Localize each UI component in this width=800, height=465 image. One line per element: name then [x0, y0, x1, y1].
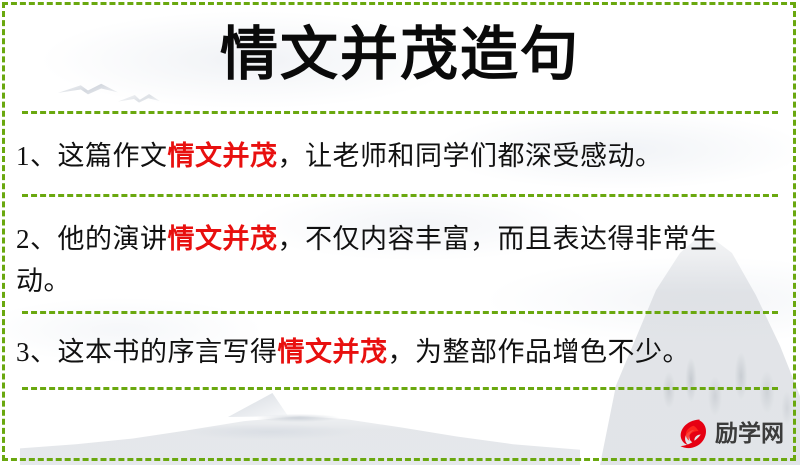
sentence-index: 3、 [16, 337, 58, 367]
card-content: 情文并茂造句 1、这篇作文情文并茂，让老师和同学们都深受感动。 2、他的演讲情文… [0, 0, 800, 465]
sentence-text-after: ，让老师和同学们都深受感动。 [278, 141, 663, 171]
sentence-text-before: 这篇作文 [58, 141, 168, 171]
sentence-card-page: 情文并茂造句 1、这篇作文情文并茂，让老师和同学们都深受感动。 2、他的演讲情文… [0, 0, 800, 465]
sentence-index: 1、 [16, 141, 58, 171]
sentence-item: 3、这本书的序言写得情文并茂，为整部作品增色不少。 [16, 331, 768, 373]
divider-top [22, 111, 778, 114]
sentence-keyword: 情文并茂 [278, 337, 388, 367]
divider-2 [22, 311, 778, 314]
sentence-keyword: 情文并茂 [168, 141, 278, 171]
sentence-text-before: 他的演讲 [58, 224, 168, 254]
sentence-item: 2、他的演讲情文并茂，不仅内容丰富，而且表达得非常生动。 [16, 218, 768, 302]
sentence-index: 2、 [16, 224, 58, 254]
divider-bottom [22, 387, 778, 390]
sentence-text-before: 这本书的序言写得 [58, 337, 278, 367]
sentence-keyword: 情文并茂 [168, 224, 278, 254]
divider-1 [22, 194, 778, 197]
site-logo[interactable]: 励学网 [672, 410, 790, 456]
page-title: 情文并茂造句 [0, 16, 800, 94]
sentence-item: 1、这篇作文情文并茂，让老师和同学们都深受感动。 [16, 135, 768, 177]
flame-swirl-icon [672, 413, 712, 453]
sentence-text-after: ，为整部作品增色不少。 [388, 337, 691, 367]
site-logo-text: 励学网 [715, 413, 784, 453]
